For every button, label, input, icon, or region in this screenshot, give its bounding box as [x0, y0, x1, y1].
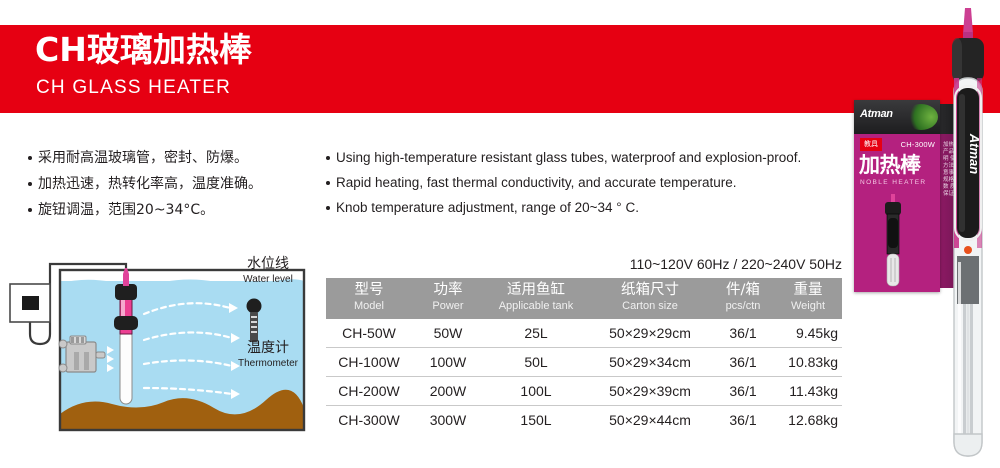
column-header-cn: 件/箱: [712, 282, 774, 299]
bullet-icon: [326, 181, 330, 185]
feature-item: Using high-temperature resistant glass t…: [326, 145, 846, 170]
package-box-front: Atman 教具 CH-300W 加热棒 NOBLE HEATER: [854, 100, 940, 292]
column-header-cn: 重量: [774, 282, 842, 299]
cell-tank: 50L: [484, 348, 588, 377]
package-product-image: [872, 192, 918, 288]
cell-pcs: 36/1: [712, 348, 774, 377]
bullet-icon: [326, 156, 330, 160]
feature-text: Using high-temperature resistant glass t…: [336, 145, 801, 170]
column-header-en: Applicable tank: [484, 299, 588, 313]
feature-item: 旋钮调温，范围20~34°C。: [28, 197, 328, 223]
label-water-level-en: Water level: [220, 273, 316, 286]
column-header-cn: 功率: [412, 282, 484, 299]
feature-text: 采用耐高温玻璃管，密封、防爆。: [38, 145, 248, 171]
cell-carton: 50×29×39cm: [588, 377, 712, 406]
label-thermometer-en: Thermometer: [216, 357, 320, 370]
label-water-level-cn: 水位线: [220, 256, 316, 273]
column-header-en: Carton size: [588, 299, 712, 313]
cell-pcs: 36/1: [712, 319, 774, 348]
bullet-icon: [28, 156, 32, 160]
cell-power: 300W: [412, 406, 484, 435]
feature-text: Knob temperature adjustment, range of 20…: [336, 195, 639, 220]
column-header-en: Power: [412, 299, 484, 313]
swoosh-decoration-icon: [904, 104, 938, 130]
cell-carton: 50×29×29cm: [588, 319, 712, 348]
label-thermometer-cn: 温度计: [216, 340, 320, 357]
brand-logo: Atman: [860, 108, 893, 120]
column-header-cn: 纸箱尺寸: [588, 282, 712, 299]
cell-pcs: 36/1: [712, 377, 774, 406]
column-header-model: 型号 Model: [326, 278, 412, 319]
feature-item: Rapid heating, fast thermal conductivity…: [326, 170, 846, 195]
column-header-en: Model: [326, 299, 412, 313]
table-row: CH-100W 100W 50L 50×29×34cm 36/1 10.83kg: [326, 348, 842, 377]
cell-carton: 50×29×34cm: [588, 348, 712, 377]
column-header-power: 功率 Power: [412, 278, 484, 319]
feature-item: 加热迅速，热转化率高，温度准确。: [28, 171, 328, 197]
table-row: CH-200W 200W 100L 50×29×39cm 36/1 11.43k…: [326, 377, 842, 406]
cell-pcs: 36/1: [712, 406, 774, 435]
label-water-level: 水位线 Water level: [220, 256, 316, 286]
package-model-code: CH-300W: [901, 140, 935, 149]
cell-weight: 11.43kg: [774, 377, 842, 406]
cell-power: 100W: [412, 348, 484, 377]
feature-item: 采用耐高温玻璃管，密封、防爆。: [28, 145, 328, 171]
cell-weight: 9.45kg: [774, 319, 842, 348]
package-box-top: Atman: [854, 100, 940, 134]
column-header-carton-size: 纸箱尺寸 Carton size: [588, 278, 712, 319]
feature-text: Rapid heating, fast thermal conductivity…: [336, 170, 736, 195]
table-row: CH-50W 50W 25L 50×29×29cm 36/1 9.45kg: [326, 319, 842, 348]
cell-weight: 10.83kg: [774, 348, 842, 377]
aquarium-diagram: 水位线 Water level 温度计 Thermometer: [8, 256, 320, 442]
features-list-cn: 采用耐高温玻璃管，密封、防爆。 加热迅速，热转化率高，温度准确。 旋钮调温，范围…: [28, 145, 328, 223]
cell-model: CH-50W: [326, 319, 412, 348]
cell-model: CH-200W: [326, 377, 412, 406]
column-header-applicable-tank: 适用鱼缸 Applicable tank: [484, 278, 588, 319]
package-title-cn: 加热棒: [859, 154, 921, 177]
heater-illustration: Atman: [944, 4, 992, 464]
column-header-cn: 型号: [326, 282, 412, 299]
cell-tank: 25L: [484, 319, 588, 348]
table-header: 型号 Model 功率 Power 适用鱼缸 Applicable tank 纸…: [326, 278, 842, 319]
voltage-spec: 110~120V 60Hz / 220~240V 50Hz: [630, 256, 842, 272]
table-row: CH-300W 300W 150L 50×29×44cm 36/1 12.68k…: [326, 406, 842, 435]
features-list-en: Using high-temperature resistant glass t…: [326, 145, 846, 220]
heater-product-photo: Atman: [944, 4, 992, 464]
column-header-en: Weight: [774, 299, 842, 313]
bullet-icon: [28, 208, 32, 212]
product-spec-sheet: CH玻璃加热棒 CH GLASS HEATER 采用耐高温玻璃管，密封、防爆。 …: [0, 0, 1000, 468]
page-subtitle: CH GLASS HEATER: [36, 76, 231, 100]
page-title: CH玻璃加热棒: [35, 30, 252, 70]
column-header-en: pcs/ctn: [712, 299, 774, 313]
table-body: CH-50W 50W 25L 50×29×29cm 36/1 9.45kg CH…: [326, 319, 842, 434]
column-header-weight: 重量 Weight: [774, 278, 842, 319]
bullet-icon: [28, 182, 32, 186]
cell-power: 50W: [412, 319, 484, 348]
cell-carton: 50×29×44cm: [588, 406, 712, 435]
cell-model: CH-300W: [326, 406, 412, 435]
package-badge: 教具: [860, 138, 882, 151]
feature-item: Knob temperature adjustment, range of 20…: [326, 195, 846, 220]
cell-power: 200W: [412, 377, 484, 406]
cell-tank: 150L: [484, 406, 588, 435]
column-header-pcs-per-carton: 件/箱 pcs/ctn: [712, 278, 774, 319]
cell-weight: 12.68kg: [774, 406, 842, 435]
label-thermometer: 温度计 Thermometer: [216, 340, 320, 370]
column-header-cn: 适用鱼缸: [484, 282, 588, 299]
table-header-row: 型号 Model 功率 Power 适用鱼缸 Applicable tank 纸…: [326, 278, 842, 319]
svg-text:Atman: Atman: [967, 133, 982, 175]
feature-text: 加热迅速，热转化率高，温度准确。: [38, 171, 262, 197]
bullet-icon: [326, 206, 330, 210]
specification-table: 型号 Model 功率 Power 适用鱼缸 Applicable tank 纸…: [326, 278, 842, 434]
cell-model: CH-100W: [326, 348, 412, 377]
package-title-en: NOBLE HEATER: [860, 179, 927, 186]
product-photo-group: 加热棒 产品说明 使用方法 注意事项 规格参数 质量保证 Atman 教具 CH…: [848, 0, 1000, 468]
cell-tank: 100L: [484, 377, 588, 406]
feature-text: 旋钮调温，范围20~34°C。: [38, 197, 214, 223]
